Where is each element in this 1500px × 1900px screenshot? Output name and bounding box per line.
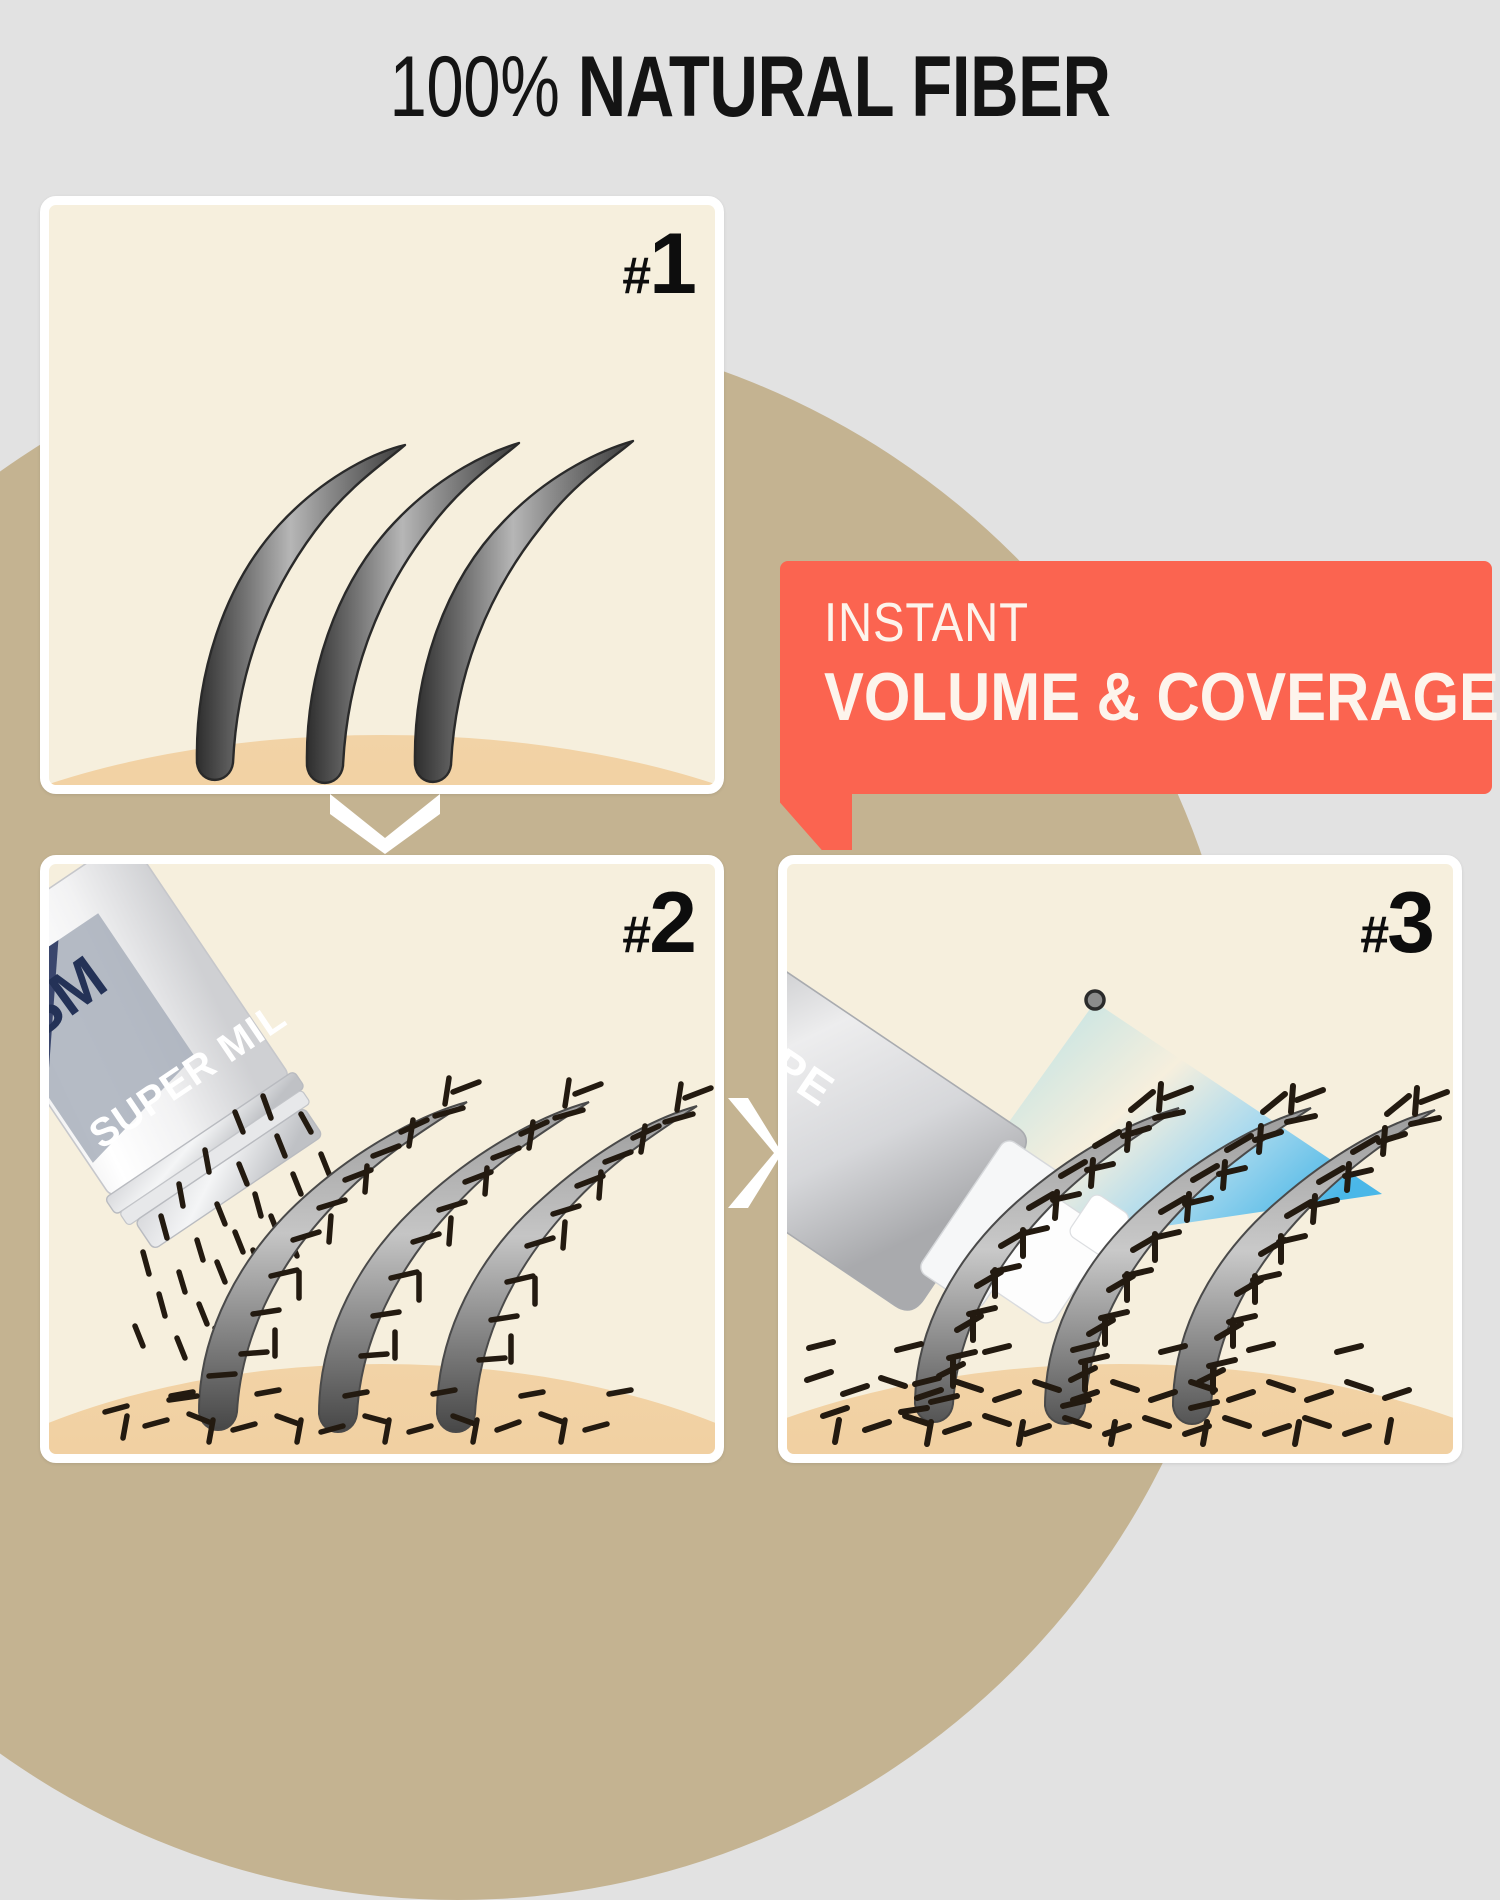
page-title: 100% NATURAL FIBER <box>165 38 1335 136</box>
title-natural-fiber: NATURAL FIBER <box>578 39 1111 135</box>
hash-symbol: # <box>622 247 649 305</box>
step-panel-2[interactable]: SM SUPER MIL <box>40 855 724 1463</box>
hair-strands-illustration <box>49 205 715 785</box>
step-number-1: #1 <box>622 215 695 314</box>
callout-text-block: INSTANT VOLUME & COVERAGE <box>824 589 1500 739</box>
hash-symbol: # <box>1360 906 1387 964</box>
step-digit: 1 <box>649 216 695 312</box>
callout-line-1: INSTANT <box>824 589 1484 655</box>
panel-1-illustration <box>49 205 715 785</box>
step-panel-3[interactable]: SUPE HA <box>778 855 1462 1463</box>
scalp-skin <box>49 1364 715 1454</box>
fiber-sprinkle-illustration: SM SUPER MIL <box>49 864 715 1454</box>
panel-3-illustration: SUPE HA <box>787 864 1453 1454</box>
title-percent: 100% <box>389 39 559 135</box>
spray-fixer-illustration: SUPE HA <box>787 864 1453 1454</box>
step-number-2: #2 <box>622 874 695 973</box>
arrow-down-icon <box>330 792 440 854</box>
step-digit: 3 <box>1387 875 1433 971</box>
arrow-right-icon <box>726 1098 782 1208</box>
infographic-canvas: 100% NATURAL FIBER <box>0 0 1500 1500</box>
panel-2-illustration: SM SUPER MIL <box>49 864 715 1454</box>
step-panel-1[interactable]: #1 <box>40 196 724 794</box>
nozzle-opening <box>1086 991 1104 1009</box>
callout-banner: INSTANT VOLUME & COVERAGE <box>780 561 1492 794</box>
step-digit: 2 <box>649 875 695 971</box>
callout-line-2: VOLUME & COVERAGE <box>824 655 1499 739</box>
scalp-skin <box>49 735 715 785</box>
step-number-3: #3 <box>1360 874 1433 973</box>
hash-symbol: # <box>622 906 649 964</box>
